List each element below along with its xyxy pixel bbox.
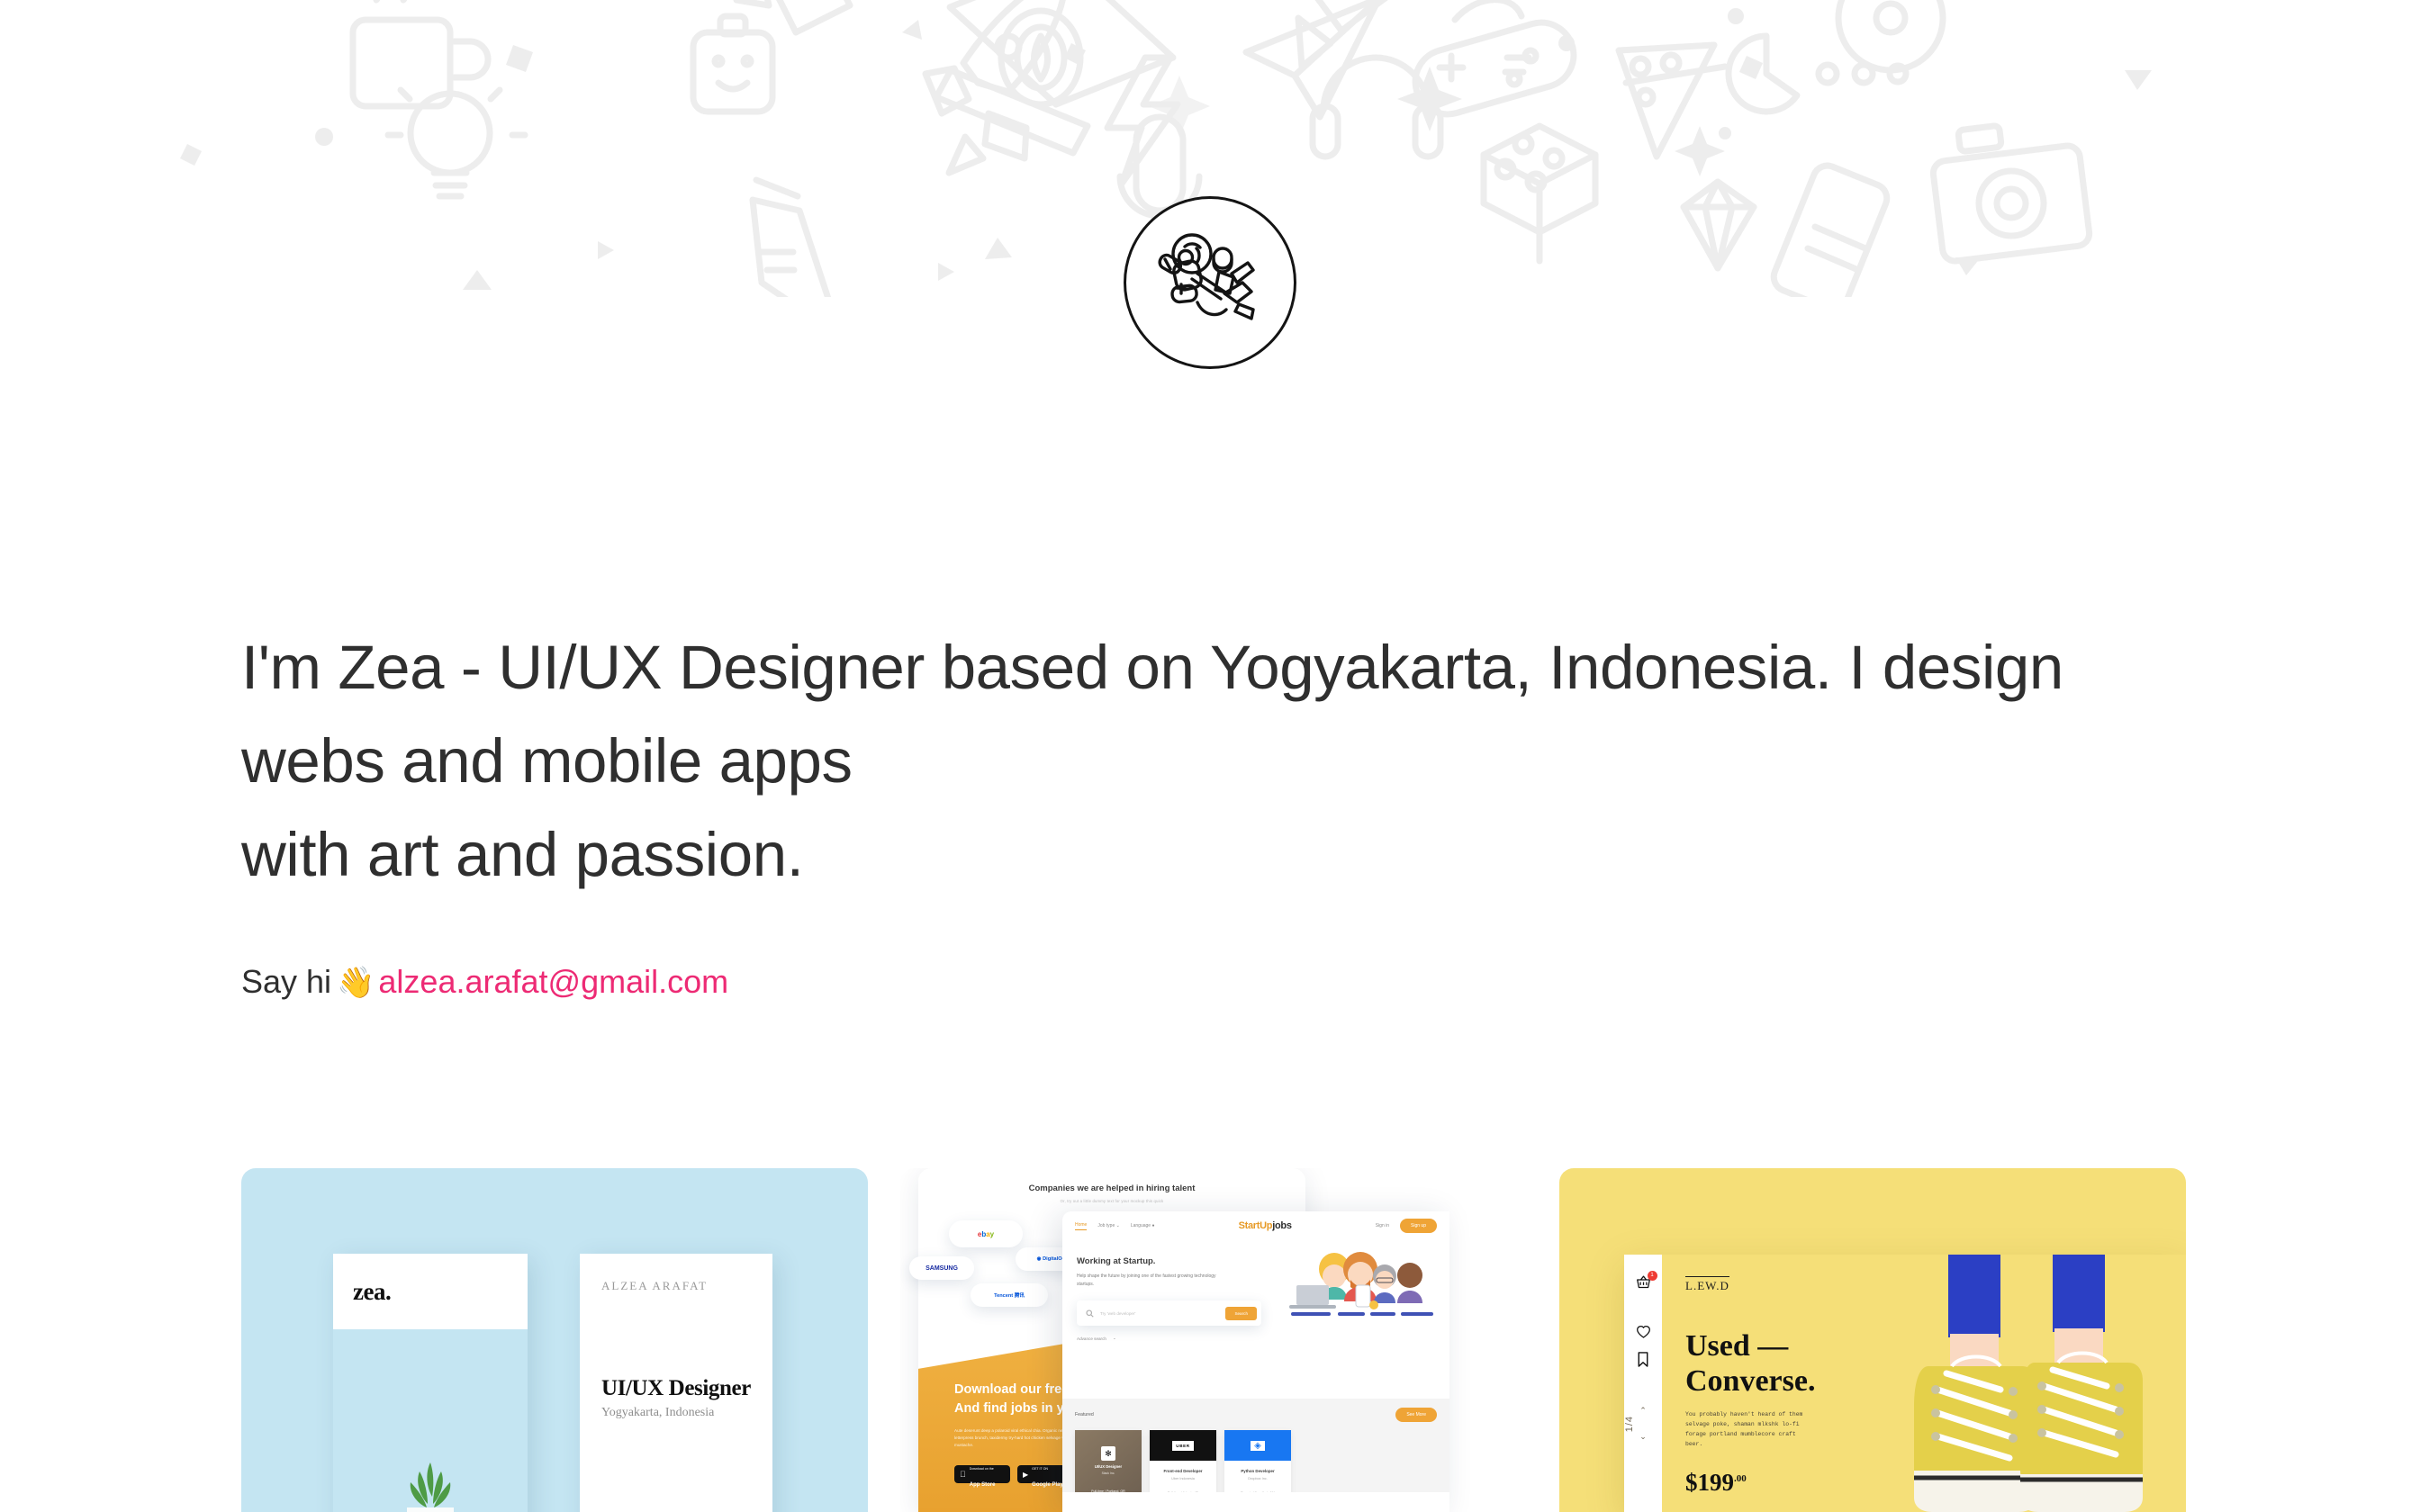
waving-hand-icon: 👋: [337, 966, 375, 1000]
job-card[interactable]: ◈ Python Developer Dropbox Inc. Remote |…: [1224, 1430, 1291, 1498]
work-gallery: zea. ALZEA: [0, 1168, 2420, 1512]
featured-label: Featured: [1075, 1412, 1094, 1417]
portfolio-page: I'm Zea - UI/UX Designer based on Yogyak…: [0, 0, 2420, 1512]
job-title: Front-end Developer: [1150, 1469, 1216, 1473]
job-thumb: ◈: [1224, 1430, 1291, 1461]
nav-job-type[interactable]: Job type ⌄: [1097, 1223, 1120, 1228]
lightbulb-icon: [388, 70, 525, 196]
cd-icon: [1838, 0, 1943, 70]
search-button[interactable]: Search: [1225, 1307, 1257, 1320]
job-company: Slack Inc.: [1075, 1471, 1142, 1475]
site-logo[interactable]: [0, 196, 2420, 373]
product-detail: L.EW.D Used — Converse. You probably hav…: [1662, 1255, 2186, 1512]
company-logo-samsung: SAMSUNG: [909, 1256, 974, 1280]
pen-icon: [736, 0, 850, 32]
contact-line: Say hi👋alzea.arafat@gmail.com: [241, 961, 2132, 1003]
nav-home[interactable]: Home: [1075, 1222, 1087, 1230]
work-card-branding[interactable]: zea. ALZEA: [241, 1168, 868, 1512]
featured-jobs-section: Featured See More ✻ UI/UX Designer Slack…: [1062, 1399, 1449, 1492]
company-logo-ebay: ebay: [949, 1220, 1023, 1247]
pizza-icon: [1619, 45, 1725, 157]
job-search-bar[interactable]: Try 'web developer' Search: [1077, 1300, 1261, 1326]
advanced-search-toggle[interactable]: Advance search ⌄: [1077, 1336, 1449, 1341]
pagination-label: 1/4: [1624, 1416, 1635, 1432]
shopping-basket-icon[interactable]: 1: [1624, 1274, 1662, 1294]
chevron-down-icon: ⌄: [1113, 1336, 1116, 1341]
job-title: Python Developer: [1224, 1469, 1291, 1473]
job-thumb: UBER: [1150, 1430, 1216, 1461]
job-card[interactable]: ✻ UI/UX Designer Slack Inc. Full-time | …: [1075, 1430, 1142, 1498]
product-description: You probably haven't heard of them selva…: [1685, 1409, 1815, 1449]
companies-subtitle: Or, try out a little dummy text for your…: [918, 1199, 1305, 1203]
person-location: Yogyakarta, Indonesia: [601, 1406, 751, 1420]
product-pagination[interactable]: ⌃ 1/4 ⌄: [1624, 1406, 1662, 1442]
business-card-back: ALZEA ARAFAT UI/UX Designer Yogyakarta, …: [580, 1254, 772, 1512]
hero-section: I'm Zea - UI/UX Designer based on Yogyak…: [241, 621, 2132, 1003]
shop-sidebar: 1 ⌃ 1/4: [1624, 1255, 1662, 1512]
site-nav: Home Job type ⌄ Language ● StartUpjobs S…: [1062, 1211, 1449, 1240]
page-title: I'm Zea - UI/UX Designer based on Yogyak…: [241, 621, 2132, 902]
bookmark-icon[interactable]: [1624, 1352, 1662, 1367]
contact-prefix: Say hi: [241, 963, 331, 1000]
see-more-button[interactable]: See More: [1395, 1408, 1437, 1422]
work-card-startupjobs[interactable]: Companies we are helped in hiring talent…: [900, 1168, 1527, 1512]
search-input[interactable]: Try 'web developer': [1100, 1311, 1219, 1316]
converse-shoes-photo: [1862, 1255, 2186, 1512]
latest-jobs-section: Latest Jobs Popular jobs ⌄: [1062, 1492, 1449, 1512]
lewd-shop-mock: 1 ⌃ 1/4: [1624, 1255, 2186, 1512]
startupjobs-landing-mock: Companies we are helped in hiring talent…: [918, 1168, 1305, 1512]
email-link[interactable]: alzea.arafat@gmail.com: [378, 963, 728, 1000]
job-title: UI/UX Designer: [1075, 1464, 1142, 1469]
signup-button[interactable]: Sign up: [1400, 1219, 1437, 1233]
startupjobs-home-mock: Home Job type ⌄ Language ● StartUpjobs S…: [1062, 1211, 1449, 1512]
work-card-lewd-shop[interactable]: 1 ⌃ 1/4: [1559, 1168, 2186, 1512]
lego-head-icon: [693, 16, 772, 112]
job-card[interactable]: UBER Front-end Developer Uber Indonesia …: [1150, 1430, 1216, 1498]
astronaut-icon: [1124, 196, 1296, 369]
search-icon: [1086, 1309, 1094, 1318]
company-logo-tencent: Tencent 腾讯: [971, 1283, 1048, 1307]
job-thumb: ✻ UI/UX Designer Slack Inc. Full-time | …: [1075, 1430, 1142, 1498]
business-card-front: zea.: [333, 1254, 528, 1512]
companies-section: Companies we are helped in hiring talent…: [918, 1168, 1305, 1203]
person-role: UI/UX Designer: [601, 1376, 751, 1401]
plant-illustration: [396, 1457, 465, 1512]
app-store-badge[interactable]:  Download on the App Store: [954, 1465, 1010, 1483]
heart-icon[interactable]: [1624, 1325, 1662, 1339]
person-name: ALZEA ARAFAT: [601, 1279, 751, 1293]
zea-logo-mark: zea.: [353, 1278, 391, 1306]
startupjobs-logo: StartUpjobs: [1239, 1220, 1292, 1231]
coffee-mug-icon: [353, 0, 488, 106]
lewd-brand-mark: L.EW.D: [1685, 1276, 1729, 1293]
companies-title: Companies we are helped in hiring talent: [918, 1183, 1305, 1193]
team-illustration: [1280, 1246, 1437, 1321]
signin-link[interactable]: Sign in: [1376, 1223, 1389, 1228]
hero-body: Help shape the future by joining one of …: [1077, 1273, 1228, 1289]
nav-language[interactable]: Language ●: [1131, 1223, 1155, 1228]
cart-count-badge: 1: [1648, 1271, 1657, 1281]
